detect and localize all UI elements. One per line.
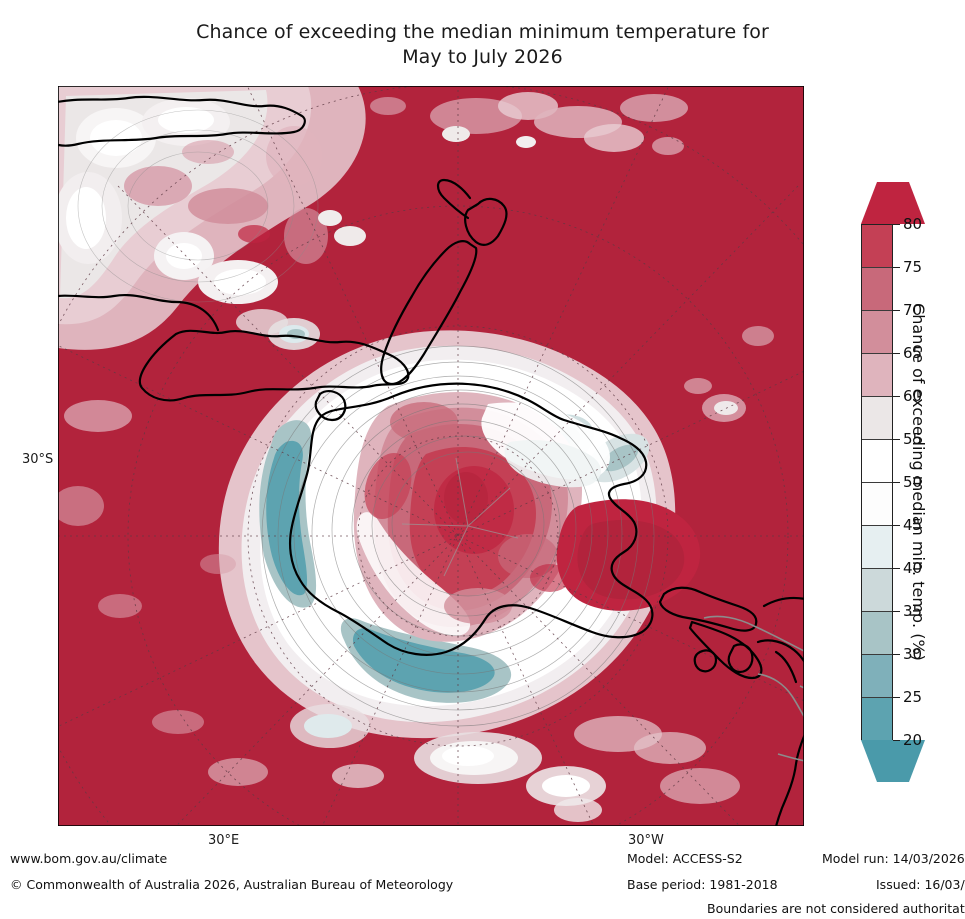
forecast-map-page: Chance of exceeding the median minimum t… [0, 0, 965, 919]
colorbar-band [862, 354, 892, 397]
colorbar-tick-mark [893, 224, 900, 225]
footer-boundaries-note: Boundaries are not considered authoritat… [707, 901, 965, 916]
footer-issued: Issued: 16/03/2026 [876, 877, 965, 892]
colorbar-tick-mark [893, 525, 900, 526]
colorbar-tick-mark [893, 267, 900, 268]
colorbar-band [862, 526, 892, 569]
footer-base-period: Base period: 1981-2018 [627, 877, 778, 892]
colorbar-tick-mark [893, 611, 900, 612]
page-title: Chance of exceeding the median minimum t… [0, 20, 965, 70]
colorbar-band [862, 612, 892, 655]
colorbar-band [862, 397, 892, 440]
colorbar-band [862, 655, 892, 698]
colorbar-ticks: 80757065605550454035302520 [893, 224, 901, 740]
colorbar-tick-mark [893, 353, 900, 354]
colorbar-band [862, 483, 892, 526]
colorbar-tick-mark [893, 568, 900, 569]
footer-model-run: Model run: 14/03/2026 [822, 851, 965, 866]
colorbar[interactable]: 80757065605550454035302520 [861, 182, 901, 784]
colorbar-band [862, 569, 892, 612]
footer-copyright: © Commonwealth of Australia 2026, Austra… [10, 877, 453, 892]
colorbar-tick-mark [893, 697, 900, 698]
map-panel[interactable] [58, 86, 804, 826]
colorbar-tick-mark [893, 310, 900, 311]
colorbar-tick-mark [893, 396, 900, 397]
colorbar-band [862, 268, 892, 311]
axis-label-left: 30°S [22, 452, 53, 467]
title-line-2: May to July 2026 [0, 45, 965, 70]
axis-label-bottom-left: 30°E [208, 833, 239, 848]
colorbar-band [862, 440, 892, 483]
colorbar-tick-mark [893, 740, 900, 741]
title-line-1: Chance of exceeding the median minimum t… [196, 21, 769, 43]
footer-model: Model: ACCESS-S2 [627, 851, 743, 866]
colorbar-tick-mark [893, 482, 900, 483]
map-canvas [58, 86, 804, 826]
colorbar-tick-mark [893, 654, 900, 655]
colorbar-body [861, 224, 893, 740]
colorbar-tick-mark [893, 439, 900, 440]
region-se-patch [268, 318, 320, 350]
colorbar-label: Chance of exceeding median min. temp. (%… [901, 172, 935, 792]
footer-url[interactable]: www.bom.gov.au/climate [10, 851, 167, 866]
colorbar-band [862, 311, 892, 354]
colorbar-band [862, 225, 892, 268]
colorbar-band [862, 698, 892, 741]
axis-label-bottom-right: 30°W [628, 833, 664, 848]
